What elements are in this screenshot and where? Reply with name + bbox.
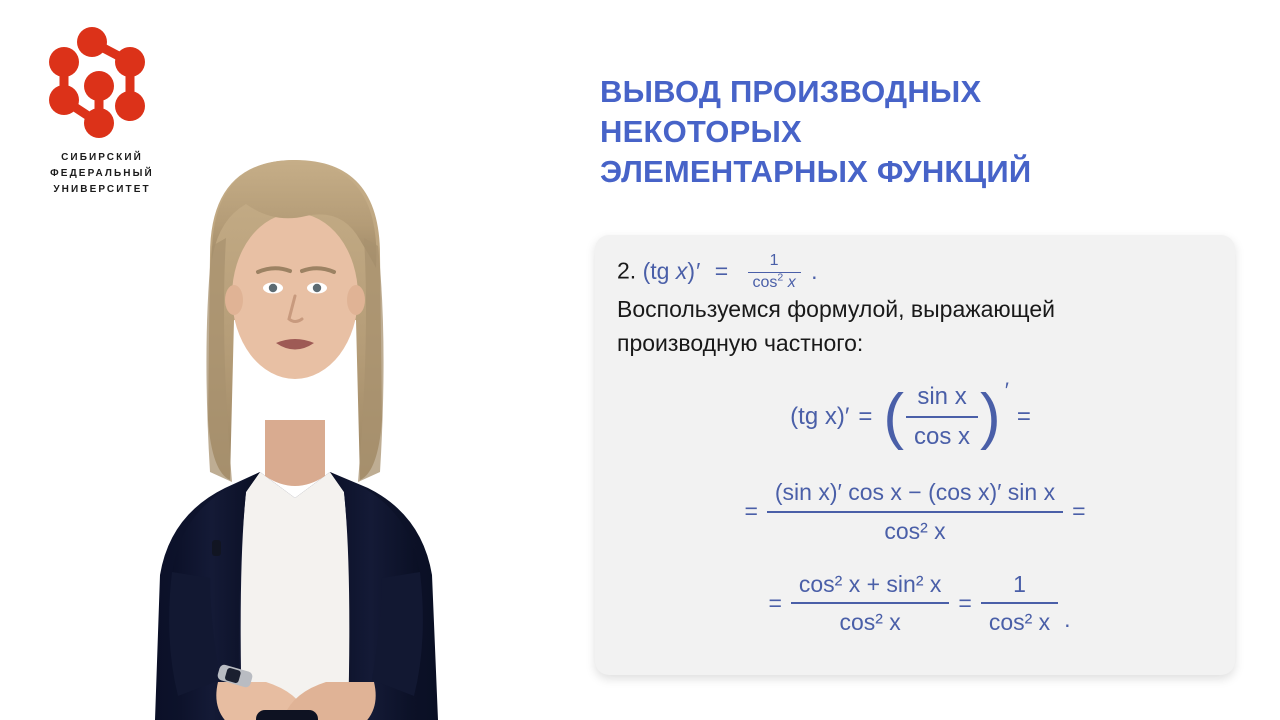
body-line-1: Воспользуемся формулой, выражающей (617, 292, 1213, 326)
presenter-ear-left (225, 285, 243, 315)
statement-line: 2. (tg x)′ = 1 cos2 x . (617, 253, 1213, 292)
eq2-fraction-bar (767, 511, 1063, 513)
eq1-paren-open: ( (883, 393, 904, 441)
fraction-denominator: cos2 x (748, 275, 801, 292)
fraction-numerator: 1 (748, 253, 801, 270)
eq3-fraction-1: cos² x + sin² x cos² x (791, 570, 950, 638)
equals-sign: = (715, 258, 728, 284)
page-title-line-3: ЭЛЕМЕНТАРНЫХ ФУНКЦИЙ (600, 152, 1200, 192)
eq3-numerator-1: cos² x + sin² x (791, 570, 950, 599)
eq3-denominator-2: cos² x (981, 608, 1058, 637)
presenter-video (60, 120, 530, 720)
statement-period: . (811, 258, 817, 284)
eq2-denominator: cos² x (767, 517, 1063, 546)
eq3-numerator-2: 1 (981, 570, 1058, 599)
eq1-fraction-bar (906, 416, 978, 418)
presenter-lapel-mic (212, 540, 221, 556)
item-number: 2. (617, 258, 636, 284)
eq2-leading-equals: = (744, 498, 757, 525)
page-title-line-1: ВЫВОД ПРОИЗВОДНЫХ (600, 72, 1200, 112)
eq3-denominator-1: cos² x (791, 608, 950, 637)
eq1-paren-close: ) (980, 393, 1001, 441)
eq3-fraction-bar-2 (981, 602, 1058, 604)
eq3-period: . (1064, 606, 1070, 637)
page-title: ВЫВОД ПРОИЗВОДНЫХ НЕКОТОРЫХ ЭЛЕМЕНТАРНЫХ… (600, 72, 1200, 192)
eq3-fraction-bar-1 (791, 602, 950, 604)
statement-formula: (tg x)′ = 1 cos2 x . (643, 258, 818, 284)
eq1-trailing-equals: = (1017, 403, 1031, 431)
eq1-denominator: cos x (906, 422, 978, 452)
equation-1: (tg x)′ = ( sin x cos x ) ′ = (617, 382, 1213, 452)
eq2-numerator: (sin x)′ cos x − (cos x)′ sin x (767, 478, 1063, 507)
eq1-numerator: sin x (906, 382, 978, 412)
page-title-line-2: НЕКОТОРЫХ (600, 112, 1200, 152)
eq1-fraction: sin x cos x (906, 382, 978, 452)
eq2-fraction: (sin x)′ cos x − (cos x)′ sin x cos² x (767, 478, 1063, 546)
inline-fraction: 1 cos2 x (748, 253, 801, 292)
presenter-neck (265, 420, 325, 486)
eq3-leading-equals: = (768, 590, 781, 617)
eq1-equals: = (858, 403, 872, 431)
eq3-fraction-2: 1 cos² x (981, 570, 1058, 638)
presenter-ear-right (347, 285, 365, 315)
body-line-2: производную частного: (617, 326, 1213, 360)
eq1-outer-prime: ′ (1004, 378, 1008, 404)
eq3-middle-equals: = (958, 590, 971, 617)
equation-3: = cos² x + sin² x cos² x = 1 cos² x . (617, 570, 1213, 638)
presenter-clicker (256, 710, 318, 720)
presenter-figure (60, 120, 530, 720)
formula-card: 2. (tg x)′ = 1 cos2 x . Воспользуемся фо… (595, 235, 1235, 675)
eq1-lhs: (tg x)′ (790, 403, 849, 431)
eq2-trailing-equals: = (1072, 498, 1085, 525)
slide-canvas: СИБИРСКИЙ ФЕДЕРАЛЬНЫЙ УНИВЕРСИТЕТ (0, 0, 1280, 720)
equation-2: = (sin x)′ cos x − (cos x)′ sin x cos² x… (617, 478, 1213, 546)
